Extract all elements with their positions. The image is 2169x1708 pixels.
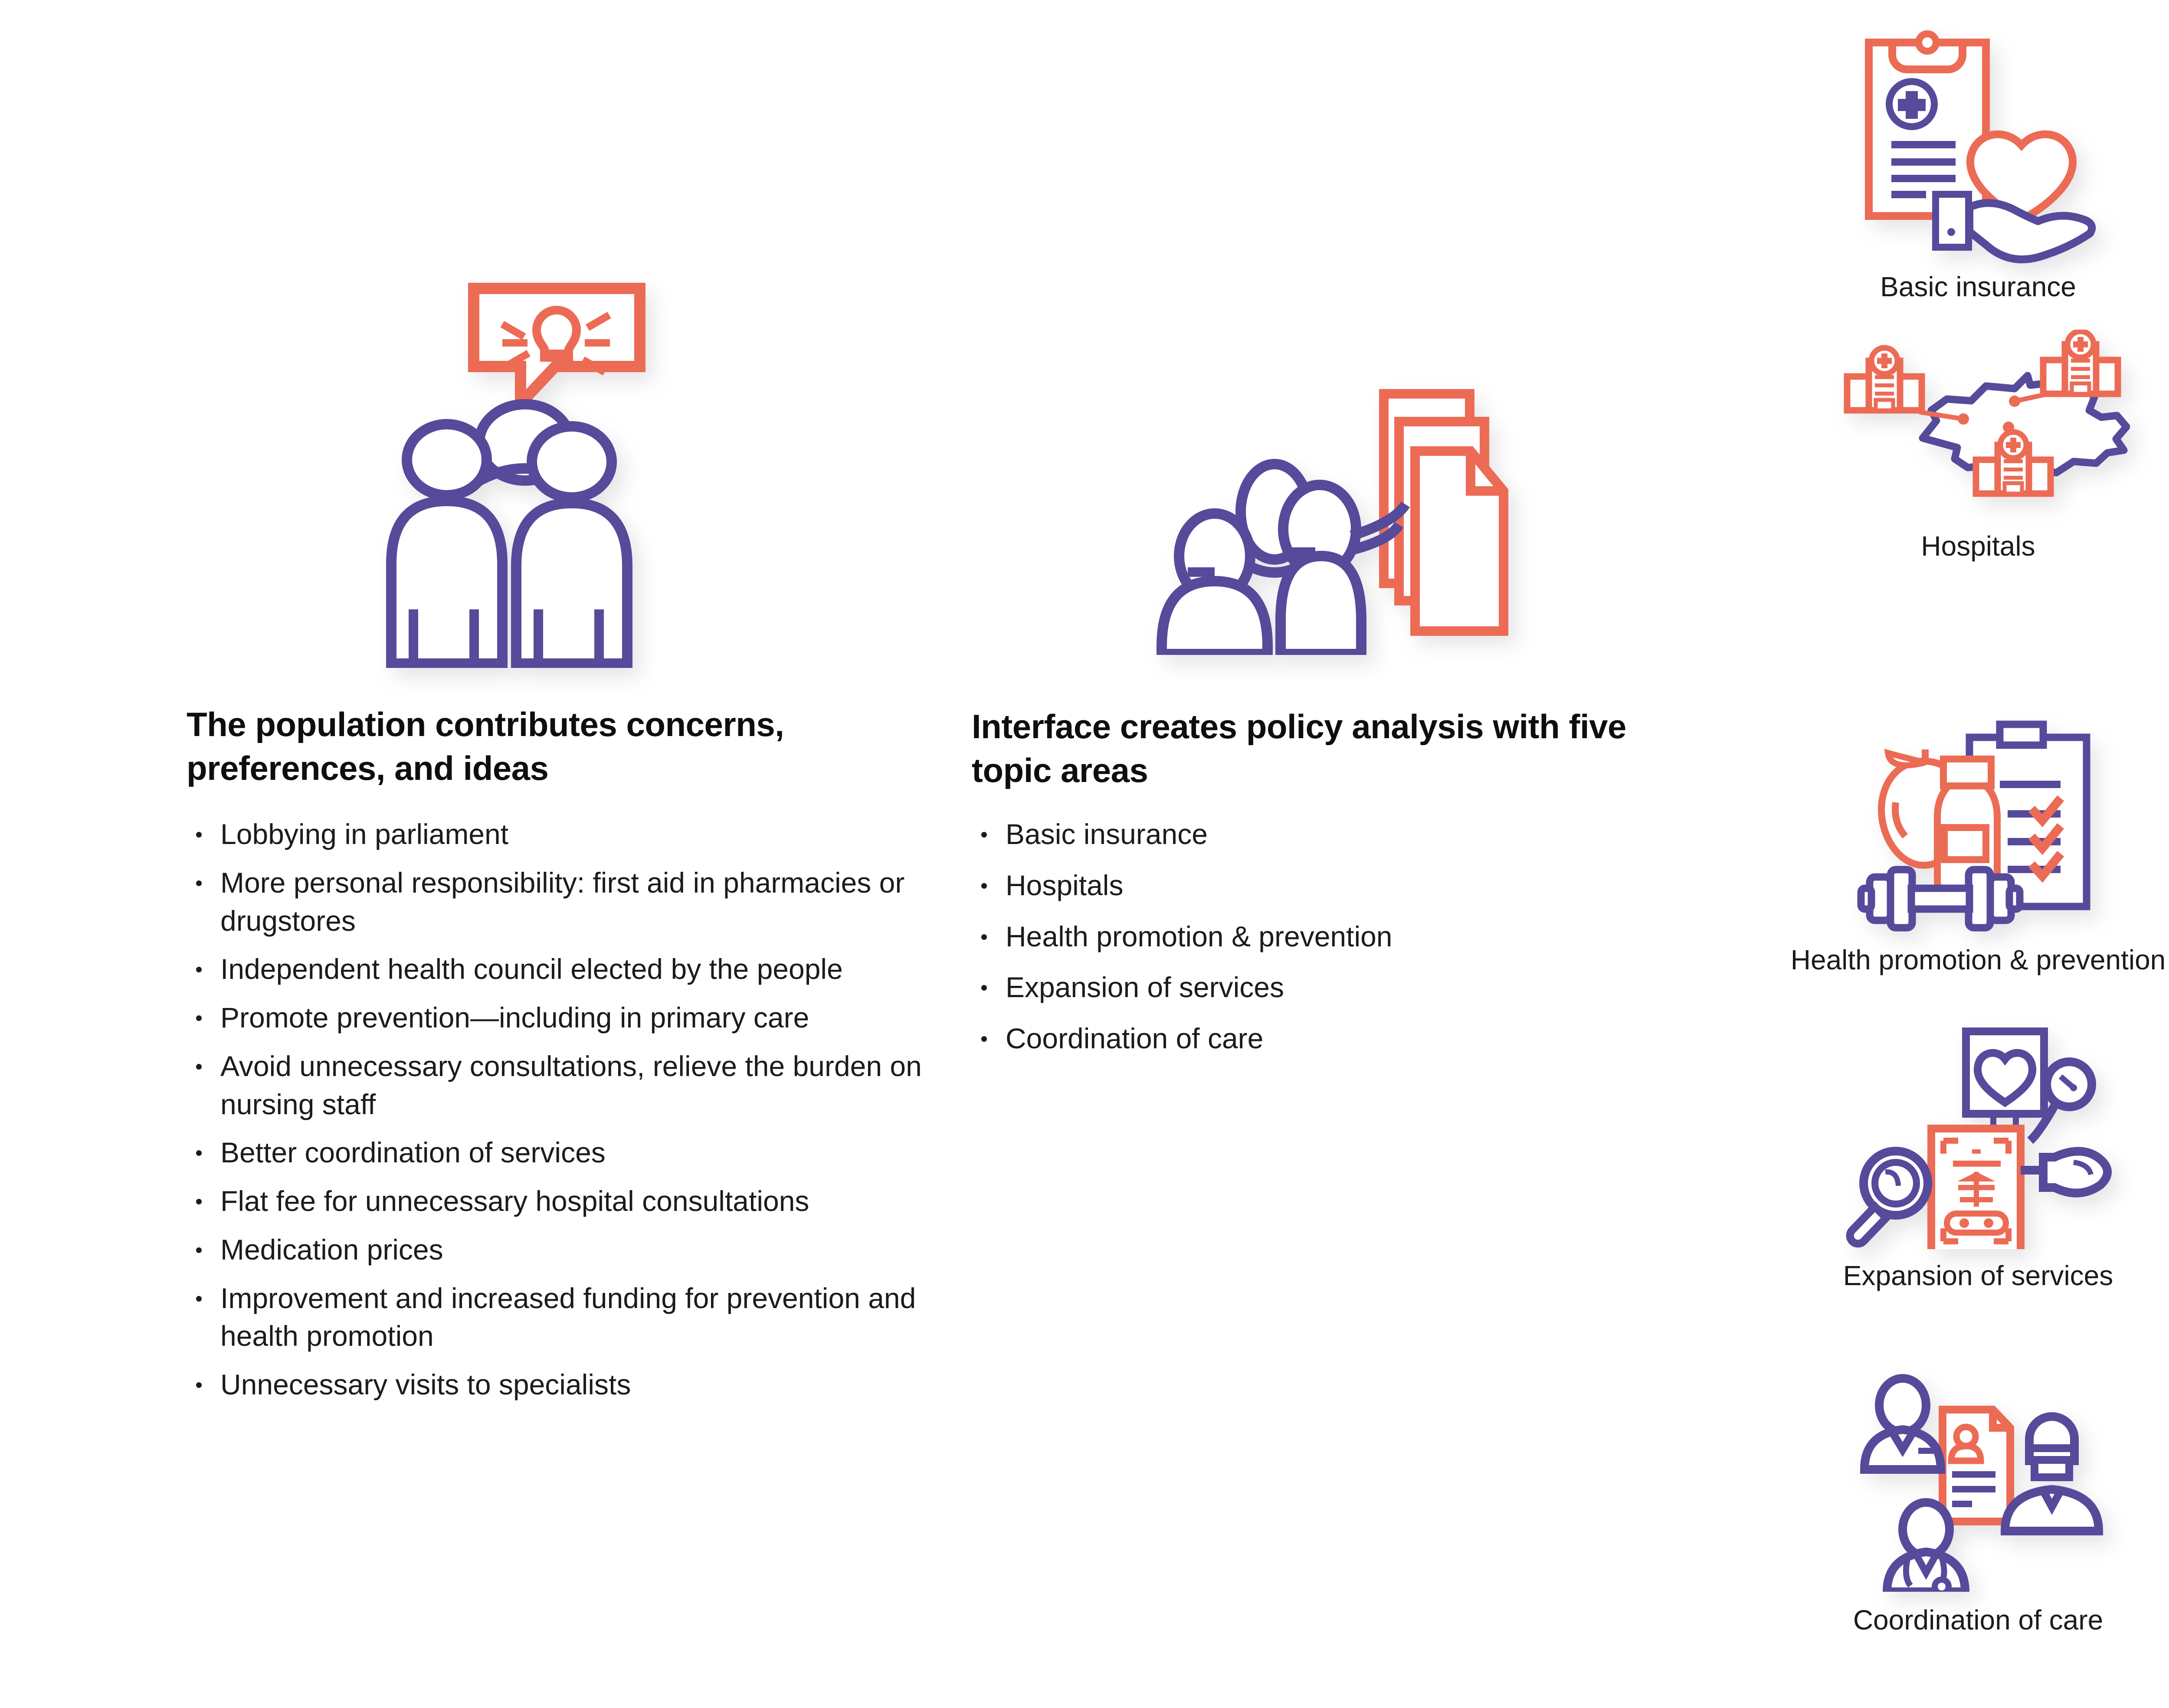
clipboard-hand-heart-icon bbox=[1826, 17, 2130, 265]
people-with-documents-icon bbox=[1154, 386, 1544, 655]
list-item: Independent health council elected by th… bbox=[187, 950, 950, 988]
infographic-canvas: The population contributes concerns, pre… bbox=[0, 0, 2169, 1708]
topic-label: Hospitals bbox=[1921, 528, 2035, 564]
list-item: Basic insurance bbox=[972, 815, 1709, 854]
topic-coordination-care: Coordination of care bbox=[1787, 1358, 2169, 1638]
xray-magnifier-bloodpressure-icon bbox=[1826, 1019, 2130, 1249]
list-item: Improvement and increased funding for pr… bbox=[187, 1279, 950, 1356]
topic-health-promotion: Health promotion & prevention bbox=[1787, 716, 2169, 978]
list-item: Health promotion & prevention bbox=[972, 918, 1709, 956]
list-item: Avoid unnecessary consultations, relieve… bbox=[187, 1047, 950, 1124]
list-item: More personal responsibility: first aid … bbox=[187, 864, 950, 940]
people-with-idea-speech-bubble-icon bbox=[382, 278, 651, 668]
topic-label: Coordination of care bbox=[1853, 1602, 2103, 1638]
topic-expansion-services: Expansion of services bbox=[1787, 1019, 2169, 1294]
population-bullet-list: Lobbying in parliament More personal res… bbox=[187, 815, 950, 1414]
population-heading: The population contributes concerns, pre… bbox=[187, 703, 924, 791]
apple-bottle-dumbbell-checklist-icon bbox=[1826, 716, 2130, 933]
population-icon bbox=[382, 278, 651, 668]
interface-bullet-list: Basic insurance Hospitals Health promoti… bbox=[972, 815, 1709, 1071]
list-item: Better coordination of services bbox=[187, 1134, 950, 1172]
list-item: Lobbying in parliament bbox=[187, 815, 950, 854]
topic-label: Health promotion & prevention bbox=[1791, 942, 2166, 978]
topic-basic-insurance: Basic insurance bbox=[1787, 17, 2169, 305]
list-item: Coordination of care bbox=[972, 1020, 1709, 1058]
interface-heading: Interface creates policy analysis with f… bbox=[972, 705, 1709, 793]
care-team-record-icon bbox=[1826, 1358, 2130, 1592]
list-item: Expansion of services bbox=[972, 969, 1709, 1007]
list-item: Flat fee for unnecessary hospital consul… bbox=[187, 1182, 950, 1220]
list-item: Unnecessary visits to specialists bbox=[187, 1366, 950, 1404]
list-item: Medication prices bbox=[187, 1231, 950, 1269]
list-item: Promote prevention—including in primary … bbox=[187, 999, 950, 1037]
swiss-map-hospitals-icon bbox=[1826, 330, 2130, 520]
list-item: Hospitals bbox=[972, 867, 1709, 905]
topic-label: Basic insurance bbox=[1880, 269, 2076, 305]
interface-icon bbox=[1154, 386, 1544, 655]
topic-label: Expansion of services bbox=[1843, 1258, 2113, 1294]
topic-hospitals: Hospitals bbox=[1787, 330, 2169, 564]
